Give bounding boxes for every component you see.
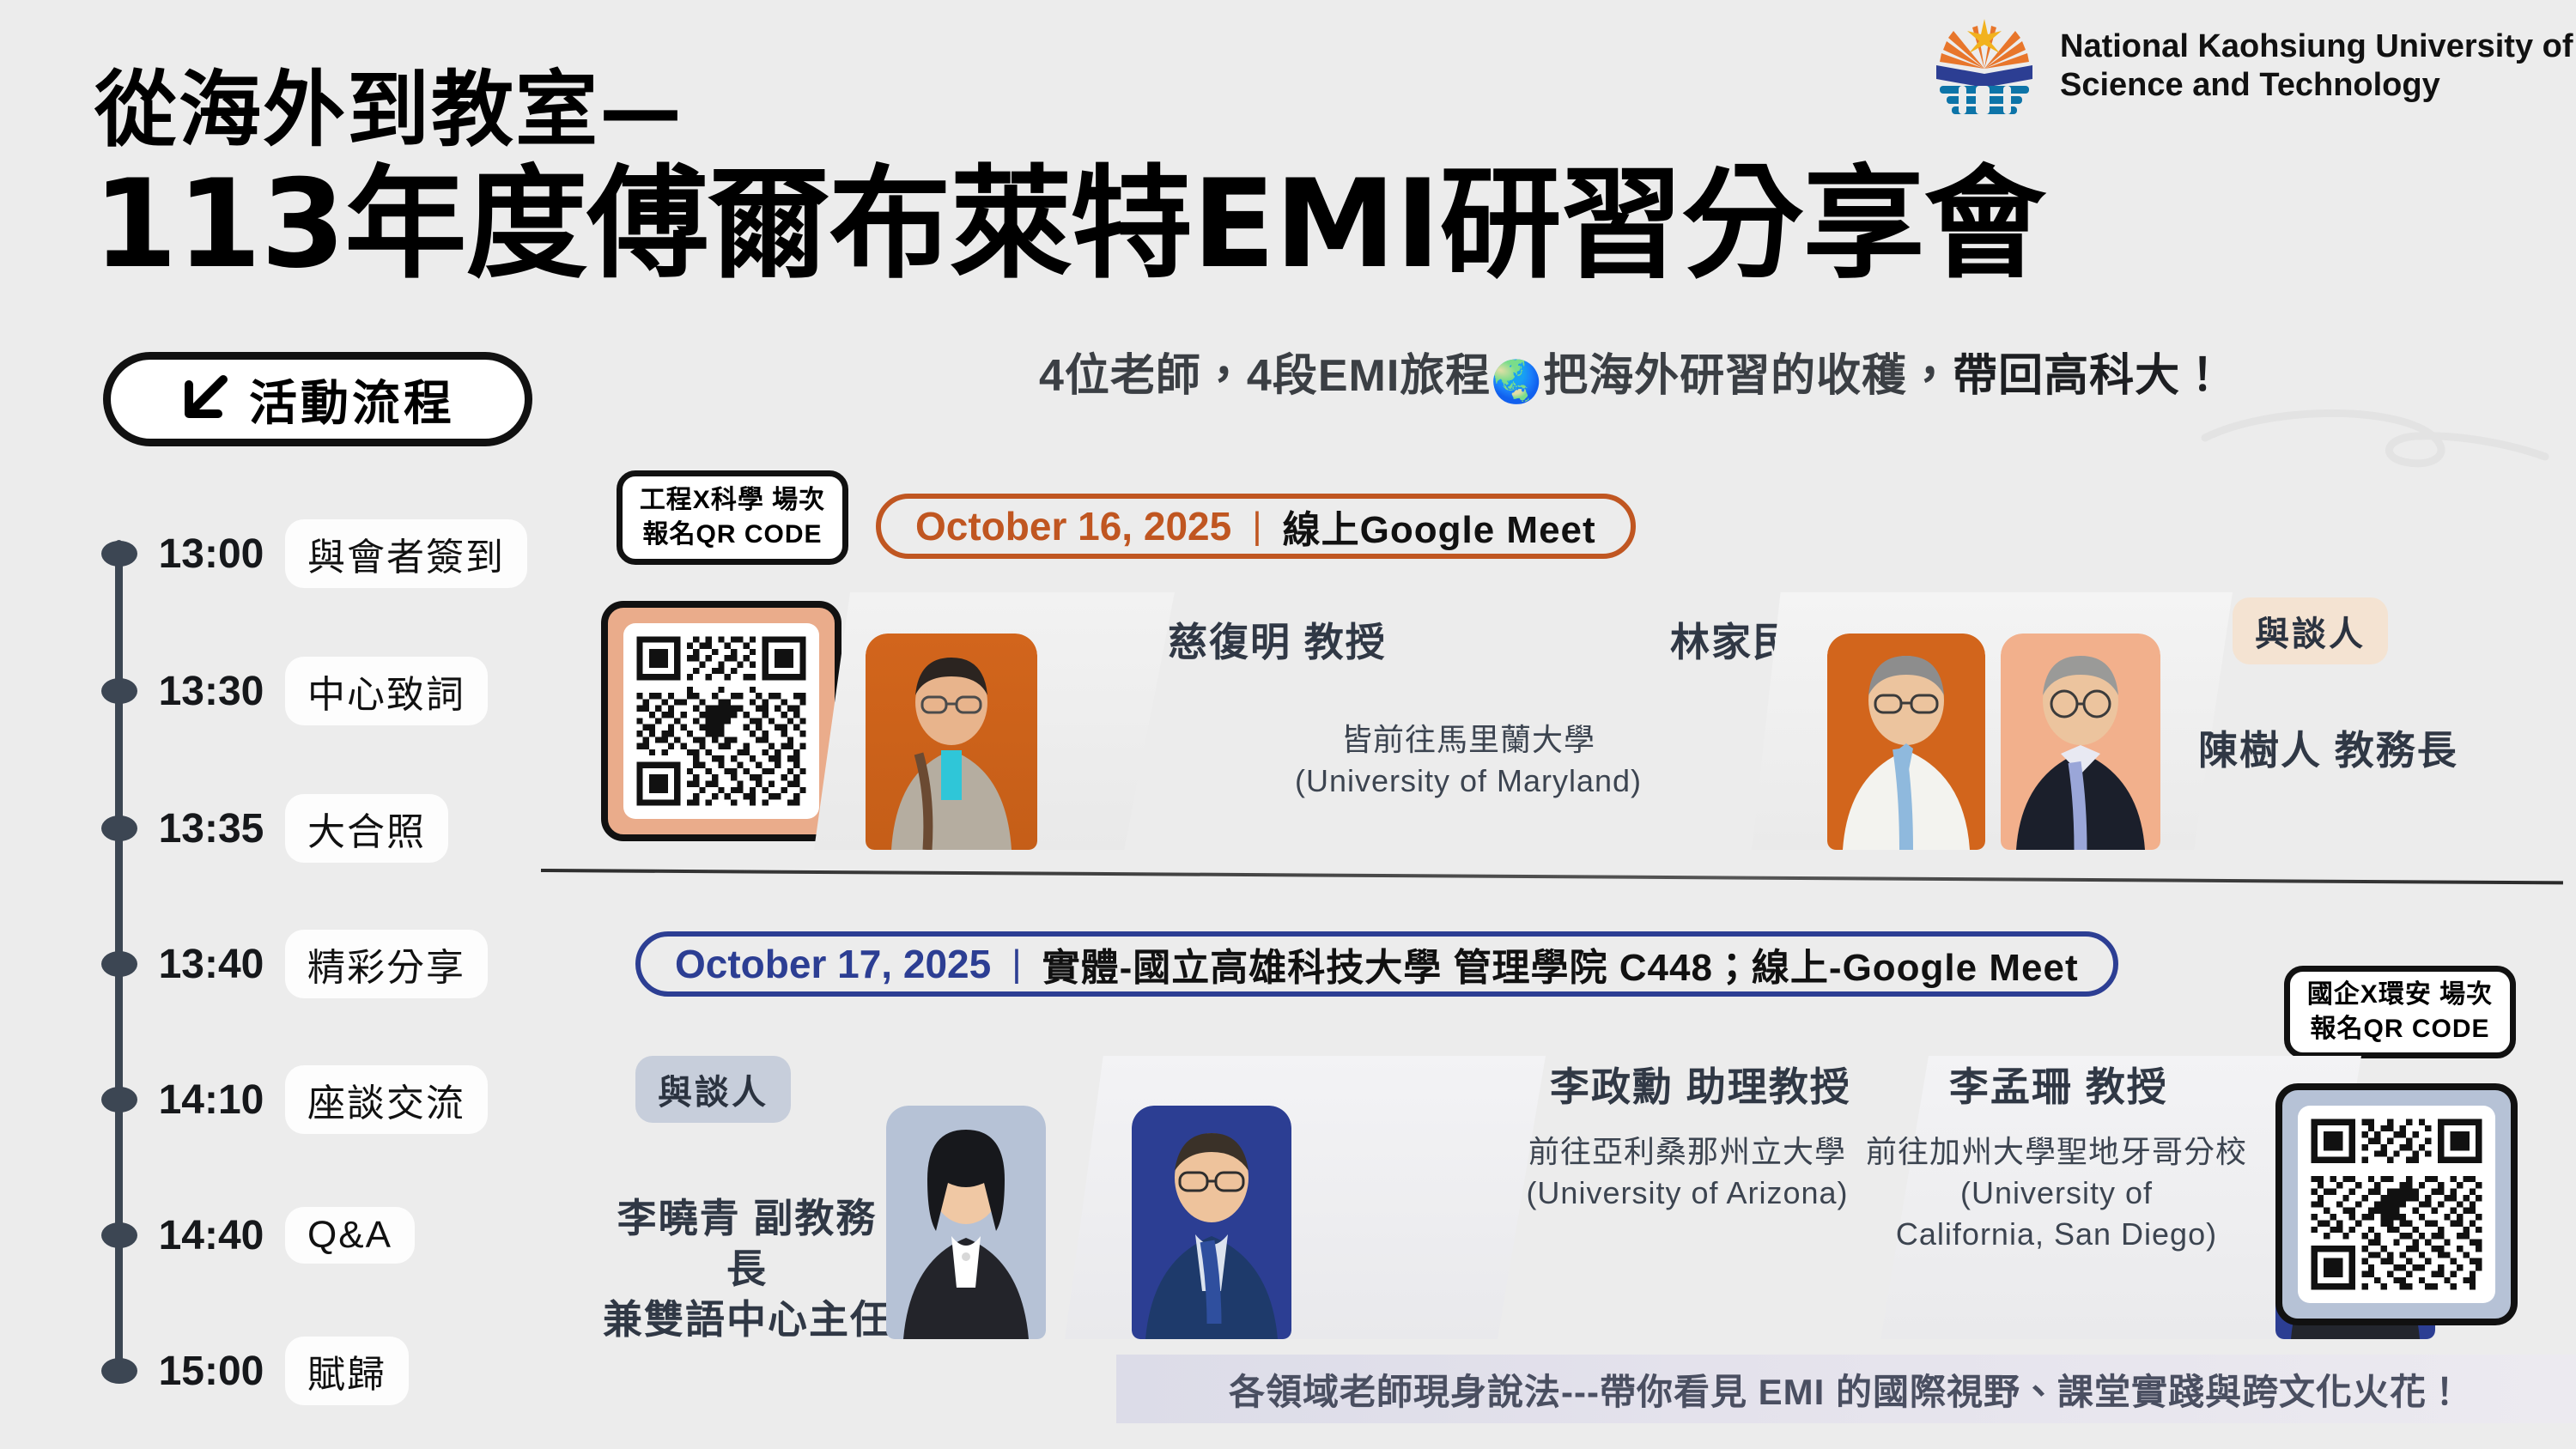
person-portrait-icon [2001,634,2160,850]
timeline-label: 精彩分享 [285,930,488,998]
person-portrait-icon [866,634,1037,850]
timeline-item: 13:40 精彩分享 [101,938,582,990]
session2-speaker1-destination-zh: 前往亞利桑那州立大學 [1473,1131,1902,1173]
person-portrait-icon [886,1106,1046,1339]
session1-slab-right [1752,592,2233,850]
timeline-item: 14:40 Q&A [101,1210,582,1261]
session2-discussant-photo [886,1106,1046,1339]
session2-qr-tag: 國企X環安 場次 報名QR CODE [2284,966,2516,1058]
session2-speaker2-destination: 前往加州大學聖地牙哥分校 (University of California, … [1850,1131,2263,1256]
timeline-label: Q&A [285,1207,415,1264]
arrow-down-left-icon [180,374,230,424]
session2-date-pill: October 17, 2025 | 實體-國立高雄科技大學 管理學院 C448… [635,931,2118,997]
session2-discussant-badge: 與談人 [635,1056,791,1123]
session2-discussant-name-line2: 兼雙語中心主任 [601,1294,893,1345]
session1-speaker1-name: 慈復明 教授 [1168,611,1387,668]
qr-code-icon [2305,1113,2488,1296]
session2-speaker2-name: 李孟珊 教授 [1949,1056,2168,1113]
schedule-badge: 活動流程 [103,352,532,446]
session2-speaker2-destination-zh: 前往加州大學聖地牙哥分校 [1850,1131,2263,1173]
timeline-time: 13:30 [137,668,285,715]
timeline-label: 座談交流 [285,1065,488,1134]
session2-qr-code[interactable] [2275,1083,2518,1325]
session1-venue: 線上Google Meet [1283,499,1596,554]
session1-destination-zh: 皆前往馬里蘭大學 [1288,719,1649,761]
session1-qr-tag-line1: 工程X科學 場次 [640,483,825,518]
session1-date: October 16, 2025 [915,503,1231,549]
qr-code-icon [630,630,812,812]
timeline-dot [101,951,137,977]
session2-discussant-name-line1: 李曉青 副教務長 [601,1193,893,1294]
timeline-time: 13:00 [137,530,285,578]
timeline-label: 與會者簽到 [285,519,527,588]
timeline-dot [101,1087,137,1113]
timeline-label: 大合照 [285,794,448,863]
session2-qr-tag-line1: 國企X環安 場次 [2307,978,2493,1012]
footer-tagline: 各領域老師現身說法---帶你看見 EMI 的國際視野、課堂實踐與跨文化火花！ [1229,1363,2464,1416]
timeline-time: 14:40 [137,1212,285,1259]
decorative-swoosh-icon [2198,403,2559,498]
session1-destination-en: (University of Maryland) [1288,761,1649,802]
session1-date-pill: October 16, 2025 | 線上Google Meet [876,494,1636,559]
session2-qr-inner [2298,1106,2495,1303]
timeline-time: 13:40 [137,941,285,988]
session1-qr-inner [623,623,819,819]
section-divider [541,869,2563,884]
session2-speaker1-photo [1132,1106,1291,1339]
university-logo: National Kaohsiung University of Science… [1928,15,2573,117]
session2-speaker1-destination: 前往亞利桑那州立大學 (University of Arizona) [1473,1131,1902,1214]
logo-text: National Kaohsiung University of Science… [2060,27,2573,105]
timeline-dot [101,1222,137,1248]
timeline-item: 13:35 大合照 [101,803,582,854]
timeline-dot [101,541,137,567]
session2-venue: 實體-國立高雄科技大學 管理學院 C448；線上-Google Meet [1042,937,2079,991]
session1-qr-code[interactable] [601,601,841,841]
schedule-timeline: 13:00 與會者簽到 13:30 中心致詞 13:35 大合照 13:40 精… [101,528,582,1395]
timeline-item: 13:30 中心致詞 [101,665,582,717]
person-portrait-icon [1827,634,1985,850]
timeline-dot [101,1358,137,1384]
timeline-label: 中心致詞 [285,657,488,725]
timeline-time: 13:35 [137,805,285,852]
timeline-dot [101,678,137,704]
subtitle-part2: 把海外研習的收穫， [1543,351,1953,401]
timeline-item: 13:00 與會者簽到 [101,528,582,579]
session2-discussant-name: 李曉青 副教務長 兼雙語中心主任 [601,1193,893,1345]
session1-discussant-photo [2001,634,2160,850]
session2-speaker2-destination-en-line2: California, San Diego) [1850,1214,2263,1255]
session2-separator: | [1012,943,1021,985]
session1-separator: | [1252,505,1261,548]
timeline-item: 14:10 座談交流 [101,1074,582,1125]
session1-qr-tag-line2: 報名QR CODE [642,518,822,552]
session2-qr-tag-line2: 報名QR CODE [2310,1012,2489,1046]
session2-body: 與談人 李曉青 副教務長 兼雙語中心主任 李政勳 助理教授 [601,1056,2567,1339]
session2-speaker1-destination-en: (University of Arizona) [1473,1173,1902,1214]
session1-speaker2-photo [1827,634,1985,850]
session1-discussant-name: 陳樹人 教務長 [2198,719,2458,776]
session2-speaker2-destination-en-line1: (University of [1850,1173,2263,1214]
nkust-logo-icon [1928,15,2041,117]
session1-speaker1-photo [866,634,1037,850]
page-title-line1: 從海外到教室— [94,43,683,162]
footer-band: 各領域老師現身說法---帶你看見 EMI 的國際視野、課堂實踐與跨文化火花！ [1116,1355,2576,1423]
timeline-label: 賦歸 [285,1337,409,1405]
timeline-time: 15:00 [137,1348,285,1395]
subtitle-part1: 4位老師，4段EMI旅程 [1039,351,1491,401]
schedule-badge-label: 活動流程 [249,365,455,434]
logo-text-line1: National Kaohsiung University of [2060,27,2573,66]
timeline-time: 14:10 [137,1076,285,1124]
person-portrait-icon [1132,1106,1291,1339]
subtitle-emphasis: 帶回高科大！ [1953,351,2226,401]
timeline-dot [101,815,137,841]
session1-destination: 皆前往馬里蘭大學 (University of Maryland) [1288,719,1649,802]
timeline-item: 15:00 賦歸 [101,1345,582,1397]
session1-body: 慈復明 教授 皆前往馬里蘭大學 (University of Maryland)… [601,592,2567,850]
logo-text-line2: Science and Technology [2060,66,2573,105]
session1-discussant-badge: 與談人 [2233,597,2388,664]
session2-date: October 17, 2025 [675,941,991,987]
page-title-line2: 113年度傅爾布萊特EMI研習分享會 [93,163,2045,288]
session2-speaker1-name: 李政勳 助理教授 [1550,1056,1851,1113]
session1-qr-tag: 工程X科學 場次 報名QR CODE [617,470,848,565]
globe-icon: 🌏 [1491,357,1543,406]
subtitle: 4位老師，4段EMI旅程🌏把海外研習的收穫，帶回高科大！ [1039,339,2226,406]
